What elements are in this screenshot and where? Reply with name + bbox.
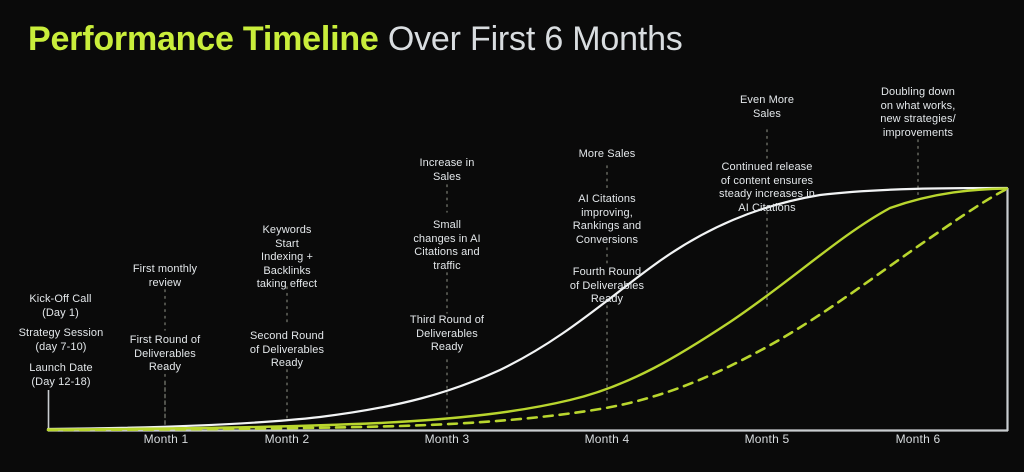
annotation-m1-first-monthly-review: First monthly review: [115, 263, 215, 290]
annotation-m5-continued-release-content: Continued release of content ensures ste…: [705, 161, 829, 215]
annotation-launch-date: Launch Date (Day 12-18): [6, 362, 116, 389]
axis-label-month-5: Month 5: [726, 432, 808, 446]
annotation-m3-small-changes-ai-citations: Small changes in AI Citations and traffi…: [392, 219, 502, 273]
axis-label-month-3: Month 3: [406, 432, 488, 446]
annotation-m6-doubling-down: Doubling down on what works, new strateg…: [865, 86, 971, 140]
curve-ai-citations-green: [48, 189, 1007, 430]
axis-label-month-6: Month 6: [877, 432, 959, 446]
annotation-m4-fourth-round-deliverables: Fourth Round of Deliverables Ready: [550, 266, 664, 307]
annotation-m2-second-round-deliverables: Second Round of Deliverables Ready: [231, 330, 343, 371]
axis-label-month-4: Month 4: [566, 432, 648, 446]
axis-label-month-1: Month 1: [125, 432, 207, 446]
annotation-m3-third-round-deliverables: Third Round of Deliverables Ready: [392, 314, 502, 355]
annotation-m4-ai-citations-improving: AI Citations improving, Rankings and Con…: [552, 193, 662, 247]
annotation-m4-more-sales: More Sales: [557, 148, 657, 162]
performance-chart: [0, 0, 1024, 472]
annotation-kickoff-call: Kick-Off Call (Day 1): [8, 293, 113, 320]
annotation-m2-keywords-indexing: Keywords Start Indexing + Backlinks taki…: [240, 224, 334, 292]
annotation-m5-even-more-sales: Even More Sales: [719, 94, 815, 121]
annotation-m1-first-round-deliverables: First Round of Deliverables Ready: [113, 334, 217, 375]
chart-curves: [48, 188, 1007, 430]
axis-label-month-2: Month 2: [246, 432, 328, 446]
annotation-m3-increase-in-sales: Increase in Sales: [399, 157, 495, 184]
annotation-strategy-session: Strategy Session (day 7-10): [2, 327, 120, 354]
timeline-infographic: Performance Timeline Over First 6 Months: [0, 0, 1024, 472]
